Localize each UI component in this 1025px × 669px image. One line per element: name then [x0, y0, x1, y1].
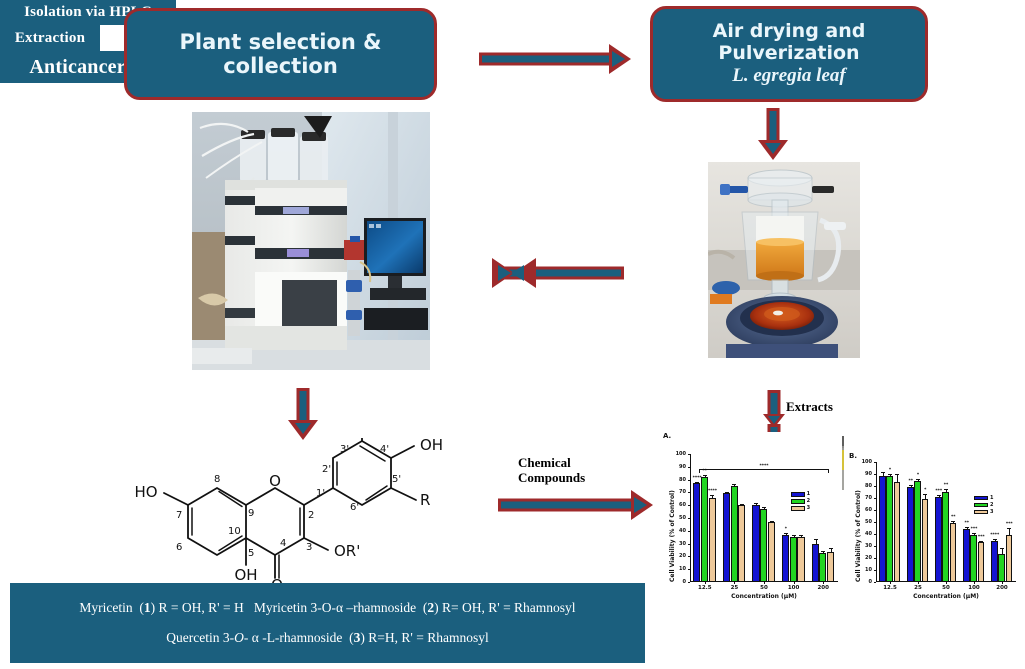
compound-3-name-a: Quercetin 3-: [166, 630, 234, 645]
chart-error-cap: [951, 521, 955, 522]
structure-label-3-ORprime: OR': [334, 542, 360, 560]
x-tick-label: 100: [960, 585, 988, 591]
label-chemical-compounds-line1: Chemical: [518, 455, 571, 470]
chart-bar: [827, 552, 834, 582]
chart-error-cap: [792, 535, 796, 536]
box-plant-line2: collection: [180, 54, 382, 78]
chart-error-cap: [937, 495, 941, 496]
chart-error-cap: [916, 479, 920, 480]
caption-extraction-label: Extraction: [15, 30, 85, 47]
y-tick-label: 90: [848, 471, 872, 477]
chart-error-cap: [740, 504, 744, 505]
structure-number-6prime: 6': [350, 502, 359, 513]
compound-1-name: Myricetin: [79, 600, 132, 615]
compound-legend-line-1: Myricetin (1) R = OH, R' = H Myricetin 3…: [79, 600, 575, 616]
structure-number-6: 6: [176, 542, 182, 553]
x-tick-label: 100: [780, 585, 808, 591]
significance-bracket: [699, 469, 829, 470]
chart-bar: [942, 492, 949, 582]
legend-swatch: [974, 510, 988, 515]
x-tick-mark: [918, 582, 919, 584]
y-tick-mark: [874, 486, 876, 487]
compound-2-number: 2: [427, 600, 434, 615]
y-tick-mark: [874, 558, 876, 559]
structure-number-3: 3: [306, 542, 312, 553]
chart-error-cap: [762, 507, 766, 508]
box-plant-line1: Plant selection &: [180, 30, 382, 54]
compound-1-number: 1: [144, 600, 151, 615]
significance-marker: *: [882, 468, 898, 473]
structure-number-1prime: 1': [316, 488, 325, 499]
significance-bracket-label: ****: [699, 464, 829, 469]
chart-error-cap: [895, 474, 899, 475]
compound-1-substituents: R = OH, R' = H: [159, 600, 244, 615]
y-axis-label: Cell Viability (% of Control): [855, 490, 862, 582]
x-tick-mark: [764, 582, 765, 584]
x-axis-label: Concentration (μM): [876, 593, 1016, 600]
y-tick-mark: [874, 462, 876, 463]
chart-bar: [978, 542, 985, 582]
chart-bar: [693, 483, 700, 582]
y-tick-mark: [874, 498, 876, 499]
x-tick-mark: [734, 582, 735, 584]
compound-legend-panel: Myricetin (1) R = OH, R' = H Myricetin 3…: [10, 583, 645, 663]
x-tick-label: 50: [932, 585, 960, 591]
structure-number-5prime: 5': [392, 474, 401, 485]
compound-3-name-italic: O: [234, 630, 244, 645]
structure-label-5prime-R: R: [420, 491, 430, 509]
chart-bar: [907, 487, 914, 582]
chart-bar: [760, 509, 767, 582]
label-chemical-compounds: Chemical Compounds: [518, 456, 585, 486]
structure-label-4prime-OH: OH: [420, 438, 443, 454]
label-extracts: Extracts: [786, 400, 833, 415]
chart-error-cap: [909, 485, 913, 486]
compound-3-name-b: - α -L-rhamnoside: [244, 630, 343, 645]
x-tick-mark: [823, 582, 824, 584]
legend-label: 2: [990, 502, 993, 508]
x-tick-mark: [974, 582, 975, 584]
chart-error-cap: [1007, 528, 1011, 529]
y-tick-mark: [688, 492, 690, 493]
chart-error-cap: [732, 484, 736, 485]
x-tick-mark: [705, 582, 706, 584]
y-tick-mark: [688, 467, 690, 468]
structure-number-4prime: 4': [380, 444, 389, 455]
significance-marker: ***: [1001, 522, 1017, 527]
x-tick-label: 200: [988, 585, 1016, 591]
y-tick-mark: [688, 544, 690, 545]
y-tick-mark: [874, 582, 876, 583]
structure-number-2: 2: [308, 510, 314, 521]
legend-swatch: [791, 506, 805, 511]
chart-error-cap: [821, 551, 825, 552]
significance-marker: *: [778, 527, 794, 532]
chart-bar: [914, 481, 921, 582]
chart-bar: [752, 505, 759, 582]
compound-3-substituents: R=H, R' = Rhamnosyl: [368, 630, 488, 645]
legend-label: 2: [807, 498, 810, 504]
y-tick-mark: [688, 505, 690, 506]
chart-error-cap: [695, 482, 699, 483]
y-tick-mark: [874, 534, 876, 535]
chart-bar: [819, 553, 826, 582]
y-tick-mark: [688, 582, 690, 583]
chart-bar: [738, 505, 745, 582]
chart-error-cap: [754, 503, 758, 504]
x-tick-mark: [794, 582, 795, 584]
y-tick-mark: [688, 454, 690, 455]
significance-marker: ***: [966, 527, 982, 532]
chart-panel-b: B.0102030405060708090100Cell Viability (…: [848, 452, 1020, 608]
chart-error-cap: [799, 535, 803, 536]
y-tick-mark: [688, 569, 690, 570]
legend-swatch: [791, 492, 805, 497]
significance-marker: ****: [987, 533, 1003, 538]
legend-label: 1: [807, 491, 810, 497]
chart-error-cap: [784, 533, 788, 534]
x-tick-mark: [1002, 582, 1003, 584]
process-box-air-drying[interactable]: Air drying and Pulverization L. egregia …: [650, 6, 928, 102]
chart-error-cap: [1000, 548, 1004, 549]
box-drying-line1: Air drying and: [713, 21, 866, 43]
structure-number-4: 4: [280, 538, 286, 549]
chart-bar: [970, 535, 977, 582]
legend-label: 3: [990, 509, 993, 515]
chart-panel-a: A.0102030405060708090100Cell Viability (…: [662, 432, 842, 608]
significance-marker: *: [910, 473, 926, 478]
chart-error-cap: [829, 548, 833, 549]
structure-label-5-OH: OH: [234, 566, 257, 584]
compound-2-substituents: R= OH, R' = Rhamnosyl: [442, 600, 576, 615]
chart-bar: [812, 544, 819, 582]
y-tick-label: 80: [662, 477, 686, 483]
label-chemical-compounds-line2: Compounds: [518, 470, 585, 485]
chart-bar: [723, 493, 730, 582]
structure-label-7-OH: HO: [134, 483, 157, 501]
photo-extraction-apparatus: [708, 162, 860, 358]
chart-panel-letter: A.: [663, 432, 671, 440]
arrow-hplc-to-structure: [288, 388, 318, 440]
x-tick-label: 50: [750, 585, 778, 591]
chart-error-cap: [814, 539, 818, 540]
structure-number-10: 10: [228, 526, 241, 537]
chart-error-cap: [979, 541, 983, 542]
chemical-structure-flavonoid: HO O OH O OR' OH OH R 2 3 4 5 6 7 8 9 10…: [128, 438, 448, 590]
y-tick-mark: [874, 510, 876, 511]
y-tick-mark: [874, 570, 876, 571]
x-tick-label: 12.5: [876, 585, 904, 591]
y-axis-label: Cell Viability (% of Control): [669, 490, 676, 582]
chart-bar: [790, 537, 797, 582]
chart-bar: [991, 541, 998, 582]
chart-error-cap: [770, 521, 774, 522]
legend-label: 3: [807, 505, 810, 511]
arrow-plant-to-drying: [479, 44, 631, 74]
arrow-extraction-to-hplc: [492, 258, 644, 288]
y-tick-label: 100: [662, 451, 686, 457]
chart-error-bar: [1009, 528, 1010, 535]
chart-error-cap: [923, 494, 927, 495]
x-tick-mark: [946, 582, 947, 584]
chart-bar: [782, 535, 789, 582]
chart-bar: [998, 554, 1005, 582]
legend-label: 1: [990, 495, 993, 501]
structure-number-8: 8: [214, 474, 220, 485]
structure-number-2prime: 2': [322, 464, 331, 475]
chart-bar: [879, 476, 886, 582]
chart-error-cap: [944, 489, 948, 490]
structure-number-3prime: 3': [340, 444, 349, 455]
y-tick-mark: [874, 522, 876, 523]
x-axis-label: Concentration (μM): [690, 593, 838, 600]
chart-error-cap: [888, 474, 892, 475]
significance-marker: ****: [704, 489, 720, 494]
x-tick-label: 200: [809, 585, 837, 591]
y-tick-label: 80: [848, 483, 872, 489]
x-tick-label: 25: [904, 585, 932, 591]
y-tick-mark: [688, 531, 690, 532]
arrow-extraction-to-extracts: [763, 390, 785, 428]
y-tick-label: 90: [662, 464, 686, 470]
chart-error-cap: [725, 492, 729, 493]
legend-swatch: [974, 503, 988, 508]
x-tick-label: 12.5: [691, 585, 719, 591]
x-tick-mark: [890, 582, 891, 584]
structure-number-7: 7: [176, 510, 182, 521]
arrow-structure-to-assay: [498, 490, 653, 520]
arrow-drying-to-extraction: [758, 108, 788, 160]
chart-bar: [935, 497, 942, 582]
x-tick-label: 25: [720, 585, 748, 591]
chart-bar: [950, 523, 957, 582]
structure-label-ring-O: O: [269, 472, 281, 490]
chart-bar: [709, 498, 716, 582]
chart-bar: [797, 537, 804, 582]
process-box-plant-selection[interactable]: Plant selection & collection: [124, 8, 437, 100]
compound-legend-line-2: Quercetin 3-O- α -L-rhamnoside (3) R=H, …: [166, 630, 488, 646]
structure-number-9: 9: [248, 508, 254, 519]
chart-bar: [922, 499, 929, 582]
significance-marker: **: [945, 515, 961, 520]
chart-bar: [963, 529, 970, 582]
chart-bar: [768, 522, 775, 582]
chart-error-cap: [710, 495, 714, 496]
significance-marker: **: [938, 483, 954, 488]
significance-marker: **: [959, 521, 975, 526]
y-tick-label: 100: [848, 459, 872, 465]
chart-error-cap: [993, 539, 997, 540]
compound-3-number: 3: [354, 630, 361, 645]
chart-bar: [731, 486, 738, 582]
box-drying-species: L. egregia leaf: [713, 65, 866, 87]
photo-hplc-instrument: [192, 112, 430, 370]
y-tick-mark: [874, 474, 876, 475]
y-tick-mark: [688, 556, 690, 557]
legend-swatch: [791, 499, 805, 504]
chart-bar: [886, 476, 893, 582]
chart-error-bar: [897, 474, 898, 482]
legend-swatch: [974, 496, 988, 501]
structure-number-5: 5: [248, 548, 254, 559]
chart-error-cap: [703, 475, 707, 476]
y-tick-mark: [874, 546, 876, 547]
box-drying-line2: Pulverization: [713, 43, 866, 65]
caption-extraction: Extraction: [0, 25, 100, 51]
chart-bar: [1006, 535, 1013, 582]
y-tick-mark: [688, 518, 690, 519]
chart-bar: [894, 482, 901, 582]
compound-2-name: Myricetin 3-O-α –rhamnoside: [254, 600, 416, 615]
